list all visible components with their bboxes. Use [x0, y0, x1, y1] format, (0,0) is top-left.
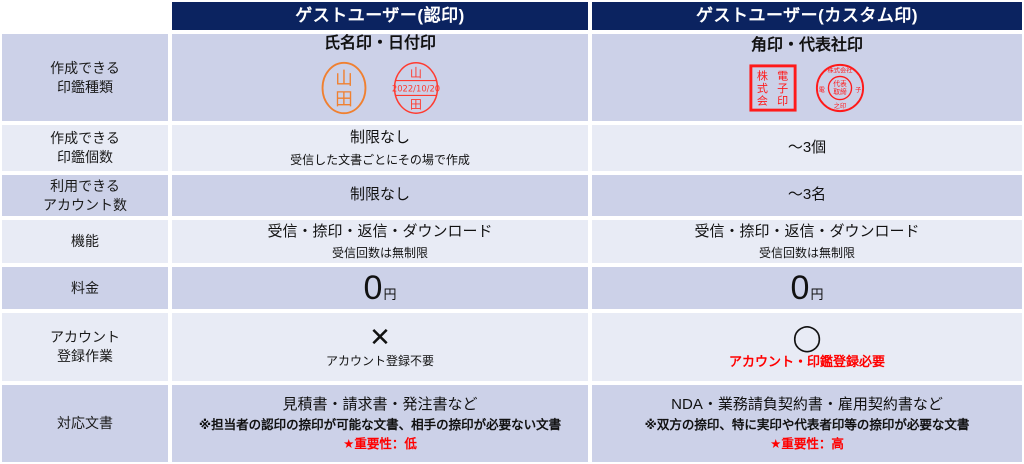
row-label-line1: 作成できる	[50, 129, 120, 148]
svg-text:電: 電	[819, 85, 826, 93]
price-ninin-unit: 円	[383, 286, 396, 304]
account-count-custom-main: 〜3名	[788, 185, 826, 205]
supported-documents-ninin-note: ※担当者の認印の捺印が可能な文書、相手の捺印が必要ない文書	[199, 417, 561, 434]
seal-count-custom-main: 〜3個	[788, 138, 826, 158]
supported-documents-custom-importance: ★重要性：高	[770, 436, 844, 453]
account-registration-custom-note: アカウント・印鑑登録必要	[729, 353, 885, 371]
cell-seal-types-custom: 角印・代表社印 株 式 会 電 子 印	[590, 32, 1024, 123]
table-row-supported-documents: 対応文書 見積書・請求書・発注書など ※担当者の認印の捺印が可能な文書、相手の捺…	[0, 383, 1024, 464]
svg-text:山: 山	[335, 68, 353, 89]
account-registration-ninin-sub: アカウント登録不要	[326, 353, 434, 369]
table-row-price: 料金 0 円 0 円	[0, 265, 1024, 311]
table-row-seal-types: 作成できる 印鑑種類 氏名印・日付印 山 田	[0, 32, 1024, 123]
name-seal-icon: 山 田	[316, 60, 372, 123]
cell-account-count-ninin: 制限なし	[170, 173, 590, 218]
row-label-features: 機能	[0, 218, 170, 265]
supported-documents-ninin-importance: ★重要性：低	[343, 436, 417, 453]
account-count-ninin-main: 制限なし	[350, 185, 410, 205]
svg-text:2022/10/20: 2022/10/20	[392, 83, 440, 93]
seal-types-custom-stamps: 株 式 会 電 子 印 代表 取締 株式会社	[748, 62, 866, 121]
row-label-line1: 機能	[71, 232, 99, 251]
circle-mark-icon: ◯	[792, 324, 821, 350]
date-seal-icon: 山 2022/10/20 田	[388, 60, 444, 123]
svg-text:取締: 取締	[833, 86, 847, 95]
svg-text:山: 山	[410, 65, 422, 79]
row-label-seal-count: 作成できる 印鑑個数	[0, 123, 170, 173]
supported-documents-custom-note: ※双方の捺印、特に実印や代表者印等の捺印が必要な文書	[645, 417, 970, 434]
cell-seal-count-ninin: 制限なし 受信した文書ごとにその場で作成	[170, 123, 590, 173]
cell-price-ninin: 0 円	[170, 265, 590, 311]
supported-documents-custom-main: NDA・業務請負契約書・雇用契約書など	[671, 395, 943, 415]
cross-mark-icon: ✕	[369, 324, 391, 350]
row-label-price: 料金	[0, 265, 170, 311]
row-label-line1: 作成できる	[50, 59, 120, 78]
header-col-guest-custom-label: ゲストユーザー(カスタム印)	[696, 5, 918, 28]
cell-features-ninin: 受信・捺印・返信・ダウンロード 受信回数は無制限	[170, 218, 590, 265]
supported-documents-ninin-main: 見積書・請求書・発注書など	[282, 395, 477, 415]
row-label-line2: アカウント数	[43, 196, 127, 215]
table-row-features: 機能 受信・捺印・返信・ダウンロード 受信回数は無制限 受信・捺印・返信・ダウン…	[0, 218, 1024, 265]
features-custom-sub: 受信回数は無制限	[759, 245, 855, 261]
row-label-supported-documents: 対応文書	[0, 383, 170, 464]
seal-types-custom-heading: 角印・代表社印	[751, 35, 863, 57]
row-label-line1: 料金	[71, 279, 99, 298]
cell-account-count-custom: 〜3名	[590, 173, 1024, 218]
seal-count-ninin-sub: 受信した文書ごとにその場で作成	[290, 152, 470, 168]
cell-seal-types-ninin: 氏名印・日付印 山 田 山 2	[170, 32, 590, 123]
price-custom-value: 0	[791, 271, 810, 305]
row-label-line1: 対応文書	[57, 414, 113, 433]
row-label-account-count: 利用できる アカウント数	[0, 173, 170, 218]
features-ninin-main: 受信・捺印・返信・ダウンロード	[267, 222, 492, 242]
comparison-table: ゲストユーザー(認印) ゲストユーザー(カスタム印) 作成できる 印鑑種類 氏名…	[0, 0, 1024, 464]
header-col-guest-ninin: ゲストユーザー(認印)	[170, 0, 590, 32]
price-custom-unit: 円	[810, 286, 823, 304]
cell-supported-documents-ninin: 見積書・請求書・発注書など ※担当者の認印の捺印が可能な文書、相手の捺印が必要な…	[170, 383, 590, 464]
cell-price-custom: 0 円	[590, 265, 1024, 311]
price-custom: 0 円	[791, 271, 824, 305]
round-representative-seal-icon: 代表 取締 株式会社 之印 電 子	[814, 62, 866, 121]
row-label-seal-types: 作成できる 印鑑種類	[0, 32, 170, 123]
price-ninin: 0 円	[364, 271, 397, 305]
table-row-account-count: 利用できる アカウント数 制限なし 〜3名	[0, 173, 1024, 218]
svg-text:田: 田	[335, 89, 353, 109]
cell-account-registration-custom: ◯ アカウント・印鑑登録必要	[590, 311, 1024, 383]
svg-text:電: 電	[777, 69, 788, 82]
table-row-seal-count: 作成できる 印鑑個数 制限なし 受信した文書ごとにその場で作成 〜3個	[0, 123, 1024, 173]
cell-account-registration-ninin: ✕ アカウント登録不要	[170, 311, 590, 383]
svg-text:之印: 之印	[834, 101, 847, 110]
features-ninin-sub: 受信回数は無制限	[332, 245, 428, 261]
row-label-line2: 印鑑種類	[57, 78, 113, 97]
table-row-account-registration: アカウント 登録作業 ✕ アカウント登録不要 ◯ アカウント・印鑑登録必要	[0, 311, 1024, 383]
svg-text:田: 田	[410, 97, 422, 111]
price-ninin-value: 0	[364, 271, 383, 305]
square-company-seal-icon: 株 式 会 電 子 印	[748, 63, 798, 120]
row-label-account-registration: アカウント 登録作業	[0, 311, 170, 383]
svg-text:代表: 代表	[833, 79, 847, 88]
svg-text:株: 株	[757, 68, 768, 82]
header-col-guest-custom: ゲストユーザー(カスタム印)	[590, 0, 1024, 32]
svg-text:式: 式	[757, 81, 768, 94]
row-label-line1: 利用できる	[50, 177, 120, 196]
cell-features-custom: 受信・捺印・返信・ダウンロード 受信回数は無制限	[590, 218, 1024, 265]
svg-text:子: 子	[777, 81, 788, 94]
svg-text:会: 会	[757, 94, 768, 107]
seal-count-ninin-main: 制限なし	[350, 128, 410, 148]
seal-types-ninin-stamps: 山 田 山 2022/10/20 田	[316, 60, 444, 123]
row-label-line2: 登録作業	[57, 347, 113, 366]
row-label-line1: アカウント	[50, 328, 120, 347]
seal-types-ninin-heading: 氏名印・日付印	[324, 33, 436, 55]
table-header-row: ゲストユーザー(認印) ゲストユーザー(カスタム印)	[0, 0, 1024, 32]
row-label-line2: 印鑑個数	[57, 148, 113, 167]
features-custom-main: 受信・捺印・返信・ダウンロード	[694, 222, 919, 242]
header-corner-cell	[0, 0, 170, 32]
svg-text:子: 子	[855, 85, 861, 93]
cell-seal-count-custom: 〜3個	[590, 123, 1024, 173]
header-col-guest-ninin-label: ゲストユーザー(認印)	[295, 5, 464, 28]
svg-text:株式会社: 株式会社	[828, 65, 853, 74]
cell-supported-documents-custom: NDA・業務請負契約書・雇用契約書など ※双方の捺印、特に実印や代表者印等の捺印…	[590, 383, 1024, 464]
svg-text:印: 印	[777, 94, 788, 107]
